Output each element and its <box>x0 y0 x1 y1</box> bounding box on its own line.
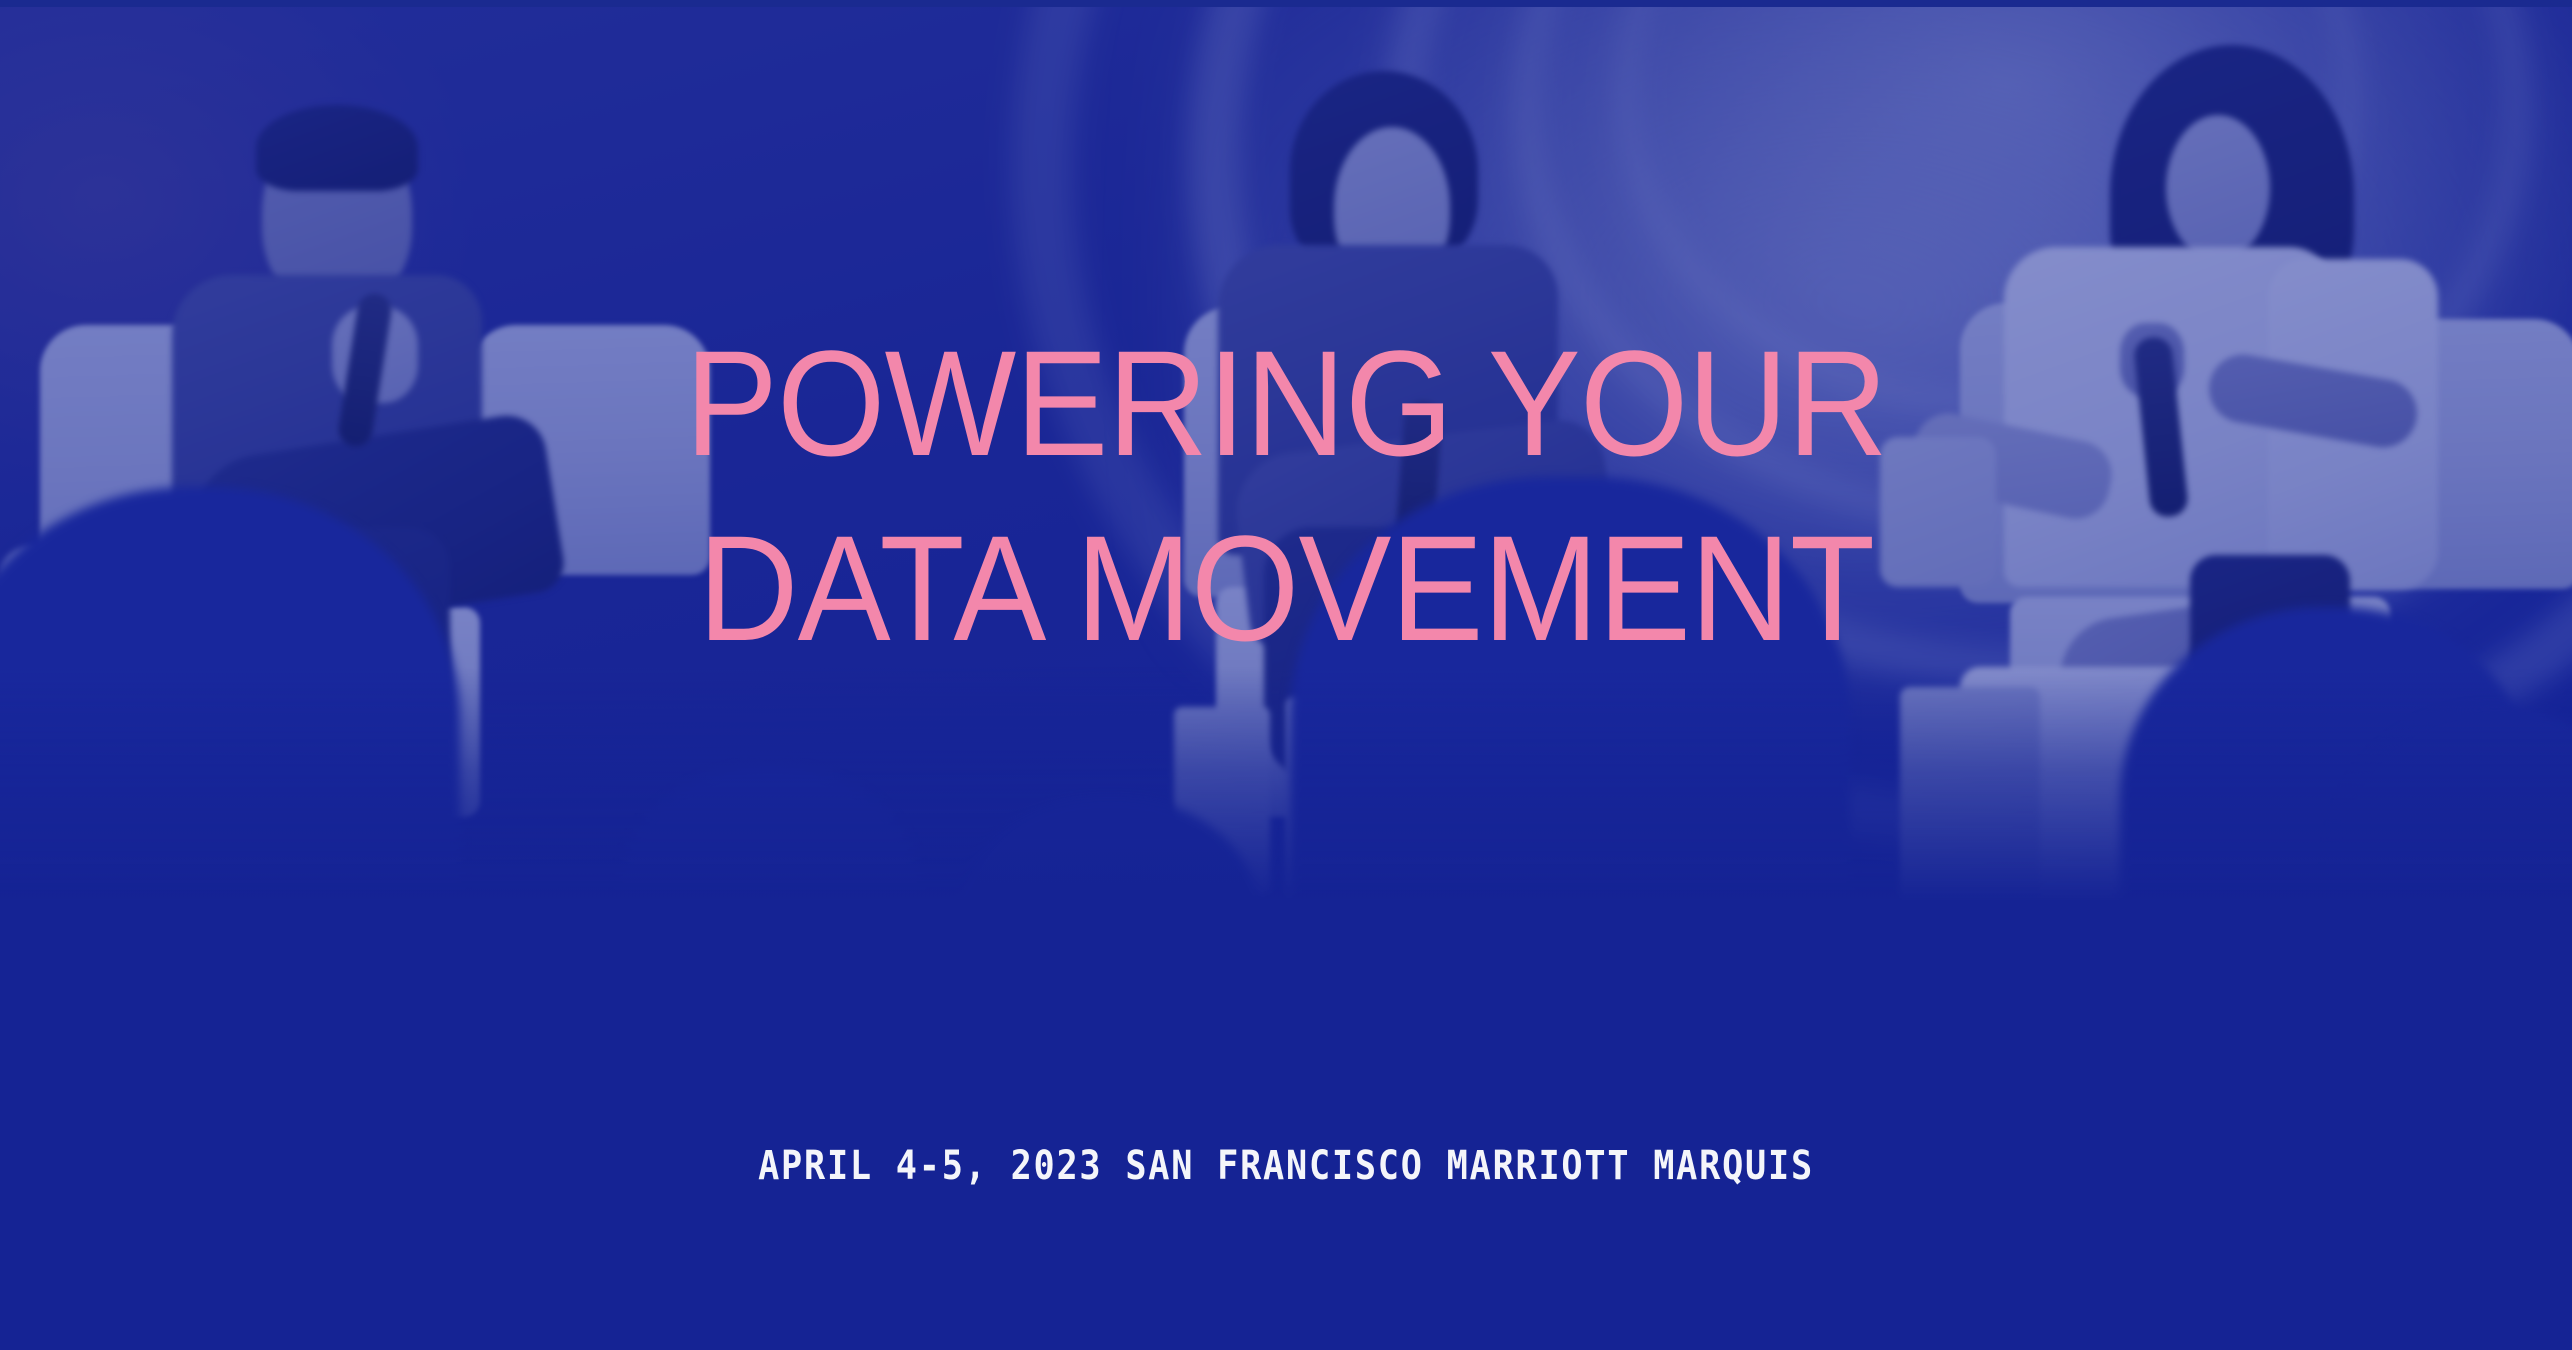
photo-bottom-fade <box>0 667 2572 967</box>
top-accent-bar <box>0 0 2572 7</box>
hero-banner: POWERING YOUR DATA MOVEMENT APRIL 4-5, 2… <box>0 0 2572 1350</box>
panel-photo-background <box>0 7 2572 967</box>
event-date-venue: APRIL 4-5, 2023 SAN FRANCISCO MARRIOTT M… <box>154 1143 2417 1189</box>
